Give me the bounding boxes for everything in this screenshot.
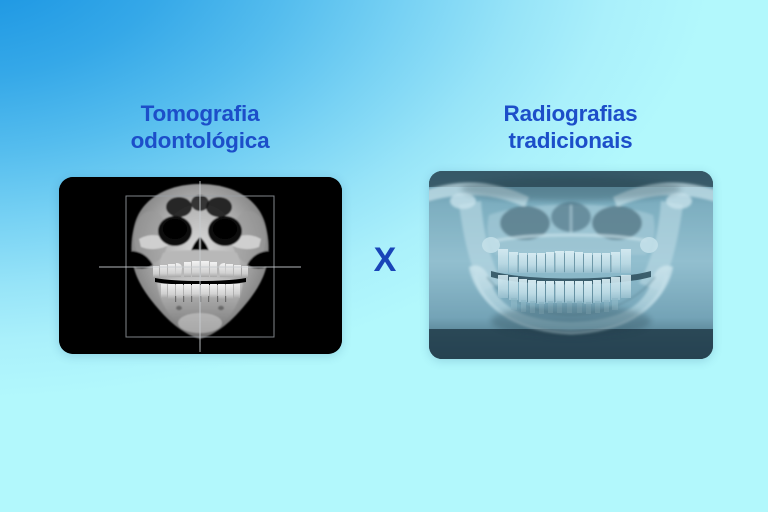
heading-radiografias-tradicionais: Radiografias tradicionais xyxy=(428,100,713,154)
panoramic-radiograph-image xyxy=(429,171,713,359)
comparison-graphic: Tomografia odontológica Radiografias tra… xyxy=(0,0,768,512)
panoramic-xray-illustration xyxy=(429,171,713,359)
versus-separator-x: X xyxy=(355,243,415,277)
dental-ct-scan-image xyxy=(59,177,342,354)
ct-scan-illustration xyxy=(59,177,342,354)
heading-tomografia-odontologica: Tomografia odontológica xyxy=(60,100,340,154)
